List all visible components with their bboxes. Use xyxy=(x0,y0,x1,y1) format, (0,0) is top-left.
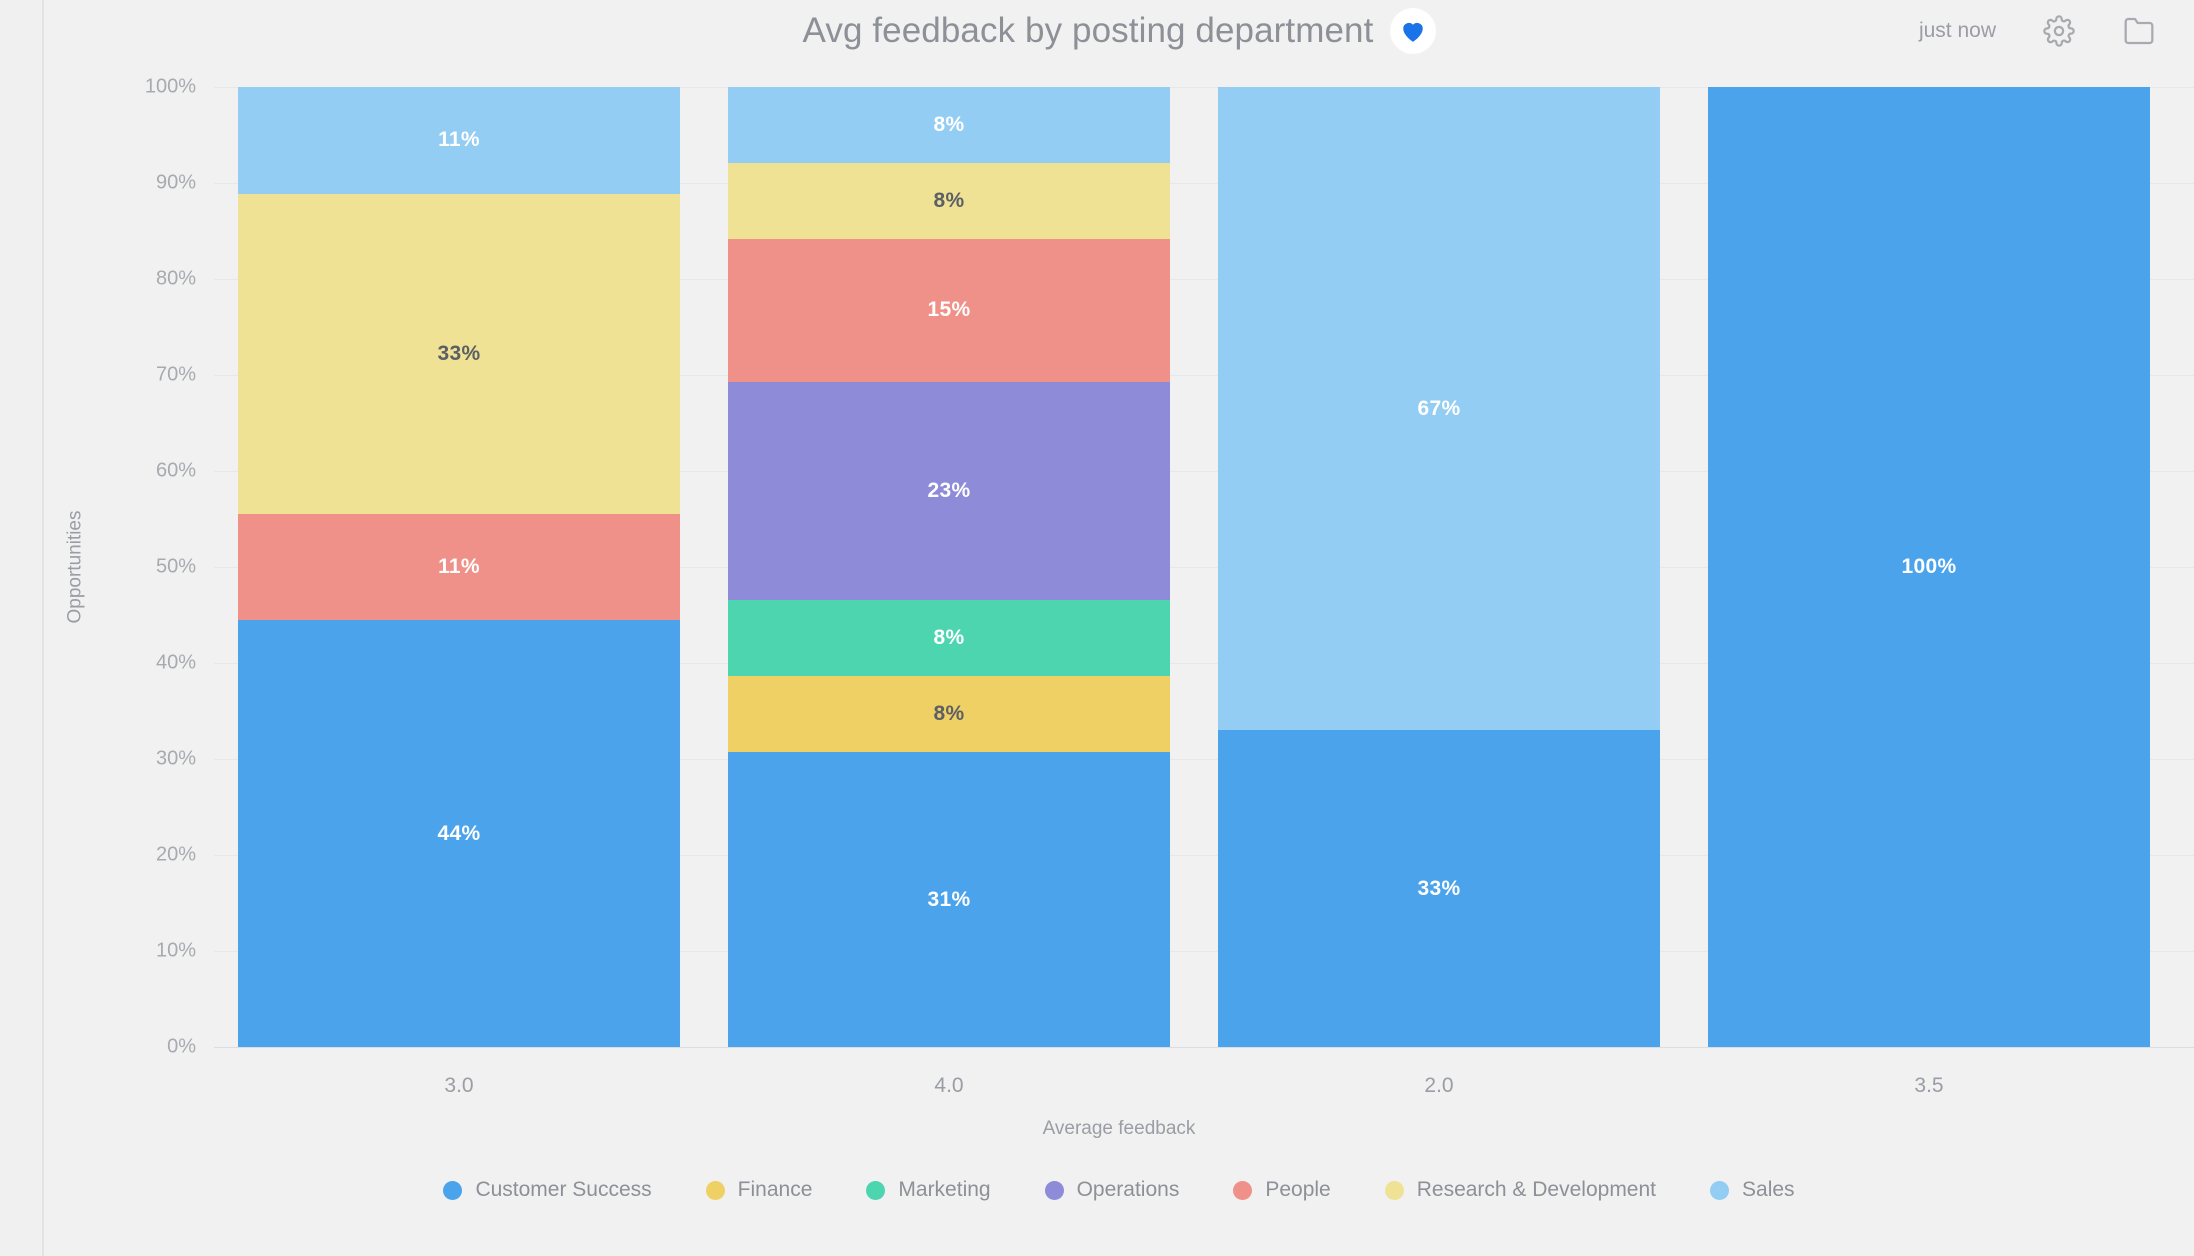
bar-segment-value-label: 33% xyxy=(1418,877,1461,901)
bar-segment-value-label: 8% xyxy=(934,702,965,726)
y-axis-tick-label: 90% xyxy=(156,172,196,195)
bar-segment-value-label: 8% xyxy=(934,189,965,213)
bar-segment[interactable]: 33% xyxy=(238,194,680,514)
bar-segment[interactable]: 67% xyxy=(1218,87,1660,730)
x-axis-tick-label: 3.0 xyxy=(214,1074,704,1098)
y-axis-tick-label: 70% xyxy=(156,364,196,387)
bar-segment-value-label: 15% xyxy=(928,298,971,322)
bar-column[interactable]: 8%8%15%23%8%8%31% xyxy=(728,87,1170,1047)
legend-item-label: Operations xyxy=(1077,1178,1180,1202)
legend-color-swatch xyxy=(866,1181,885,1200)
bar-segment[interactable]: 8% xyxy=(728,163,1170,239)
bar-segment[interactable]: 8% xyxy=(728,600,1170,676)
y-axis-tick-label: 10% xyxy=(156,940,196,963)
favorite-button[interactable] xyxy=(1391,9,1435,53)
y-axis-tick-label: 80% xyxy=(156,268,196,291)
bar-segment[interactable]: 11% xyxy=(238,514,680,621)
y-axis-tick-label: 100% xyxy=(145,76,196,99)
bar-column[interactable]: 100% xyxy=(1708,87,2150,1047)
bar-segment-value-label: 11% xyxy=(438,555,480,579)
x-axis-tick-label: 3.5 xyxy=(1684,1074,2174,1098)
y-axis-ticks: 0%10%20%30%40%50%60%70%80%90%100% xyxy=(98,62,214,1072)
gear-icon xyxy=(2043,15,2075,47)
gridline xyxy=(214,1047,2194,1048)
bar-segment[interactable]: 8% xyxy=(728,676,1170,752)
chart-legend: Customer SuccessFinanceMarketingOperatio… xyxy=(44,1178,2194,1202)
chart-title-group: Avg feedback by posting department xyxy=(44,0,2194,62)
bar-segment[interactable]: 33% xyxy=(1218,730,1660,1047)
bar-segment-value-label: 23% xyxy=(928,479,971,503)
y-axis-tick-label: 40% xyxy=(156,652,196,675)
legend-color-swatch xyxy=(1233,1181,1252,1200)
bar-segment-value-label: 31% xyxy=(928,888,971,912)
legend-color-swatch xyxy=(443,1181,462,1200)
settings-button[interactable] xyxy=(2042,14,2076,48)
y-axis-title-label: Opportunities xyxy=(64,510,86,623)
legend-item-label: Finance xyxy=(738,1178,813,1202)
legend-item[interactable]: Research & Development xyxy=(1385,1178,1656,1202)
legend-item-label: People xyxy=(1265,1178,1330,1202)
bar-segment-value-label: 44% xyxy=(438,822,481,846)
legend-item[interactable]: People xyxy=(1233,1178,1330,1202)
legend-item[interactable]: Marketing xyxy=(866,1178,990,1202)
legend-color-swatch xyxy=(1045,1181,1064,1200)
legend-item[interactable]: Finance xyxy=(706,1178,813,1202)
bar-segment[interactable]: 11% xyxy=(238,87,680,194)
y-axis-tick-label: 20% xyxy=(156,844,196,867)
bar-segment-value-label: 100% xyxy=(1902,555,1957,579)
bar-segment[interactable]: 44% xyxy=(238,620,680,1047)
legend-item[interactable]: Customer Success xyxy=(443,1178,651,1202)
legend-item[interactable]: Sales xyxy=(1710,1178,1795,1202)
x-axis-title: Average feedback xyxy=(44,1118,2194,1140)
bar-segment-value-label: 11% xyxy=(438,128,480,152)
legend-color-swatch xyxy=(1710,1181,1729,1200)
bar-column[interactable]: 67%33% xyxy=(1218,87,1660,1047)
chart-card: Avg feedback by posting department just … xyxy=(44,0,2194,1256)
bar-segment[interactable]: 31% xyxy=(728,752,1170,1047)
bar-columns: 11%33%11%44%8%8%15%23%8%8%31%67%33%100% xyxy=(214,87,2174,1047)
bar-segment-value-label: 33% xyxy=(438,342,481,366)
header-actions: just now xyxy=(1919,0,2156,62)
x-axis-tick-label: 2.0 xyxy=(1194,1074,1684,1098)
legend-color-swatch xyxy=(1385,1181,1404,1200)
y-axis-tick-label: 30% xyxy=(156,748,196,771)
bar-column[interactable]: 11%33%11%44% xyxy=(238,87,680,1047)
legend-item-label: Customer Success xyxy=(475,1178,651,1202)
bar-segment-value-label: 8% xyxy=(934,626,965,650)
y-axis-tick-label: 60% xyxy=(156,460,196,483)
x-axis-ticks: 3.04.02.03.5 xyxy=(214,1074,2174,1118)
chart-plot-area: Opportunities 0%10%20%30%40%50%60%70%80%… xyxy=(44,62,2194,1112)
bar-segment[interactable]: 23% xyxy=(728,382,1170,601)
bar-segment-value-label: 8% xyxy=(934,113,965,137)
folder-button[interactable] xyxy=(2122,14,2156,48)
bar-stack: 100% xyxy=(1708,87,2150,1047)
bar-segment-value-label: 67% xyxy=(1418,397,1461,421)
folder-icon xyxy=(2123,15,2155,47)
y-axis-tick-label: 50% xyxy=(156,556,196,579)
bar-stack: 8%8%15%23%8%8%31% xyxy=(728,87,1170,1047)
legend-item-label: Sales xyxy=(1742,1178,1795,1202)
y-axis-tick-label: 0% xyxy=(167,1036,196,1059)
legend-item[interactable]: Operations xyxy=(1045,1178,1180,1202)
page-title: Avg feedback by posting department xyxy=(803,11,1374,51)
bar-stack: 11%33%11%44% xyxy=(238,87,680,1047)
legend-color-swatch xyxy=(706,1181,725,1200)
bar-segment[interactable]: 15% xyxy=(728,239,1170,382)
y-axis-title: Opportunities xyxy=(58,62,92,1072)
bar-segment[interactable]: 100% xyxy=(1708,87,2150,1047)
legend-item-label: Research & Development xyxy=(1417,1178,1656,1202)
chart-header: Avg feedback by posting department just … xyxy=(44,0,2194,62)
bar-stack: 67%33% xyxy=(1218,87,1660,1047)
last-updated-timestamp: just now xyxy=(1919,19,1996,43)
heart-icon xyxy=(1400,19,1426,43)
chart-card-viewport: Avg feedback by posting department just … xyxy=(0,0,2194,1256)
x-axis-tick-label: 4.0 xyxy=(704,1074,1194,1098)
bar-segment[interactable]: 8% xyxy=(728,87,1170,163)
legend-item-label: Marketing xyxy=(898,1178,990,1202)
